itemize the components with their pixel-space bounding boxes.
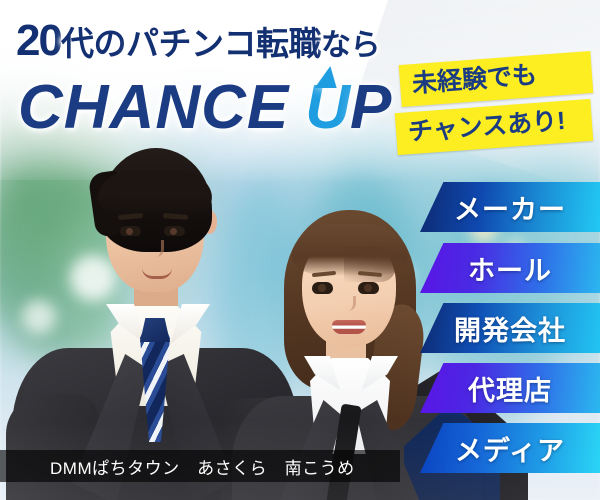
- category-label: 開発会社: [454, 309, 566, 348]
- category-button-maker[interactable]: メーカー: [420, 182, 600, 232]
- category-label: メディア: [455, 429, 565, 468]
- page-title: 20代のパチンコ転職なら: [16, 16, 380, 66]
- headline-part2: パチンコ転職: [126, 25, 321, 62]
- logo-up-group: UP: [305, 72, 391, 143]
- badge-line-2: チャンスあり!: [395, 99, 594, 155]
- category-label: メーカー: [454, 188, 566, 227]
- category-button-hall[interactable]: ホール: [420, 243, 600, 293]
- badge-line-1: 未経験でも: [399, 51, 594, 107]
- woman-eye-right: [358, 282, 379, 294]
- status-badge: 未経験でも チャンスあり!: [396, 58, 592, 148]
- woman-eye-left: [312, 282, 333, 294]
- headline-part1: 代の: [61, 25, 126, 62]
- logo-chance-text: CHANCE: [18, 72, 289, 143]
- woman-hair-fringe: [292, 224, 408, 276]
- banner-root: 20代のパチンコ転職なら CHANCE UP 未経験でも チャンスあり! メーカ…: [0, 0, 600, 500]
- woman-smiling-mouth: [332, 320, 366, 334]
- headline-tail: なら: [321, 29, 380, 62]
- man-hair-fringe: [98, 170, 212, 216]
- headline-number: 20: [16, 16, 61, 65]
- logo-p-letter: P: [350, 73, 391, 142]
- category-label: ホール: [468, 249, 552, 288]
- category-label: 代理店: [468, 369, 552, 408]
- man-eye-right: [164, 226, 185, 236]
- credit-text: DMMぱちタウン あさくら 南こうめ: [50, 454, 355, 479]
- chance-up-logo: CHANCE UP: [18, 72, 391, 143]
- man-eye-left: [120, 226, 141, 236]
- credit-bar: DMMぱちタウン あさくら 南こうめ: [0, 450, 400, 482]
- category-button-agency[interactable]: 代理店: [420, 363, 600, 413]
- category-button-developer[interactable]: 開発会社: [420, 303, 600, 353]
- category-button-media[interactable]: メディア: [420, 423, 600, 473]
